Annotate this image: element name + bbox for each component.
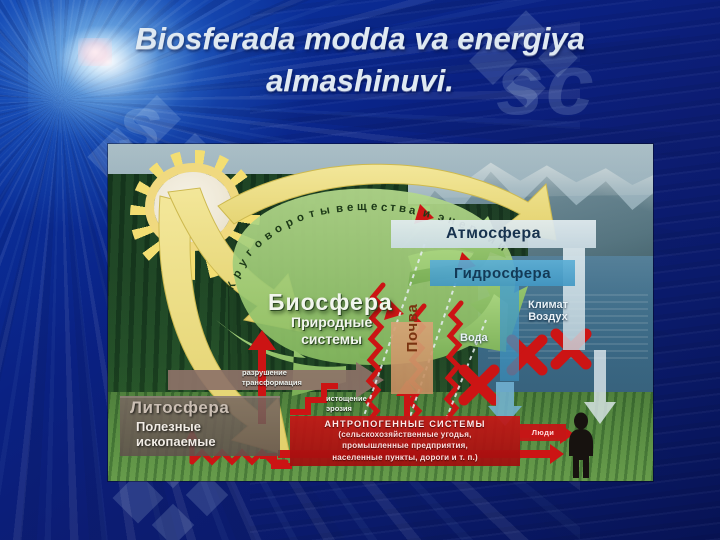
destruction-line1: разрушение — [242, 368, 302, 378]
lithosphere-sublabel: Полезные ископаемые — [136, 420, 216, 449]
arc-char: с — [381, 202, 389, 214]
arc-char: в — [398, 203, 407, 216]
arc-char: в — [335, 203, 344, 216]
depletion-label: истощение эрозия — [326, 394, 367, 414]
slide-canvas: s sc Biosferada modda va energiya almash… — [0, 0, 720, 540]
biosphere-sub-line1: Природные — [291, 314, 372, 331]
anthropogenic-sub-line3: населенные пункты, дороги и т. п.) — [296, 452, 514, 463]
arc-char: р — [284, 216, 296, 230]
arc-char: р — [231, 268, 245, 281]
destruction-line2: трансформация — [242, 378, 302, 388]
arc-char: ы — [319, 204, 331, 218]
arc-char: щ — [357, 201, 367, 213]
biosphere-sub-line2: системы — [291, 331, 372, 348]
arc-char: К — [225, 280, 239, 292]
human-silhouette-icon — [564, 412, 598, 480]
water-label: Вода — [460, 332, 488, 344]
arc-char: т — [308, 207, 317, 220]
atmosphere-label: Атмосфера — [446, 225, 541, 243]
anthropogenic-systems-box: АНТРОПОГЕННЫЕ СИСТЕМЫ (сельскохозяйствен… — [290, 416, 520, 466]
arc-char: т — [389, 202, 396, 215]
arc-char: е — [347, 202, 354, 214]
soil-label-rotated: Почва — [391, 292, 433, 364]
hydrosphere-box: Гидросфера — [430, 260, 575, 286]
anthropogenic-sub-line2: промышленные предприятия, — [296, 440, 514, 451]
biosphere-diagram-image: К р у г о в о р о т ы в е щ е с т в а и … — [108, 144, 653, 481]
anthropogenic-sub-line1: (сельскохозяйственные угодья, — [296, 429, 514, 440]
hydrosphere-stem — [500, 286, 519, 381]
arc-char: о — [252, 237, 265, 251]
climate-label: Климат — [528, 299, 568, 311]
destruction-label: разрушение трансформация — [242, 368, 302, 388]
arc-char: а — [408, 205, 417, 218]
arc-char: о — [295, 211, 306, 225]
arc-char: е — [371, 201, 378, 213]
red-cross-icon-1 — [464, 370, 494, 400]
page-title: Biosferada modda va energiya almashinuvi… — [40, 18, 680, 102]
arc-char: в — [262, 229, 275, 243]
climate-air-label: Климат Воздух — [528, 299, 568, 324]
anthropogenic-label: АНТРОПОГЕННЫЕ СИСТЕМЫ — [296, 419, 514, 429]
lithosphere-sub-line1: Полезные — [136, 420, 216, 435]
arc-char: и — [422, 207, 432, 220]
hydrosphere-label: Гидросфера — [454, 265, 551, 282]
lithosphere-label: Литосфера — [130, 398, 229, 418]
arc-char: г — [243, 247, 255, 259]
biosphere-sublabel: Природные системы — [291, 314, 372, 347]
soil-label: Почва — [404, 304, 421, 353]
lithosphere-sub-line2: ископаемые — [136, 435, 216, 450]
arc-char: у — [237, 257, 251, 270]
depletion-line2: эрозия — [326, 404, 367, 414]
air-label: Воздух — [528, 311, 568, 323]
people-label: Люди — [520, 424, 566, 441]
anthropogenic-sublabel: (сельскохозяйственные угодья, промышленн… — [296, 429, 514, 463]
biosphere-label: Биосфера — [268, 289, 393, 316]
depletion-line1: истощение — [326, 394, 367, 404]
atmosphere-box: Атмосфера — [391, 220, 596, 248]
arc-char: о — [273, 222, 285, 236]
